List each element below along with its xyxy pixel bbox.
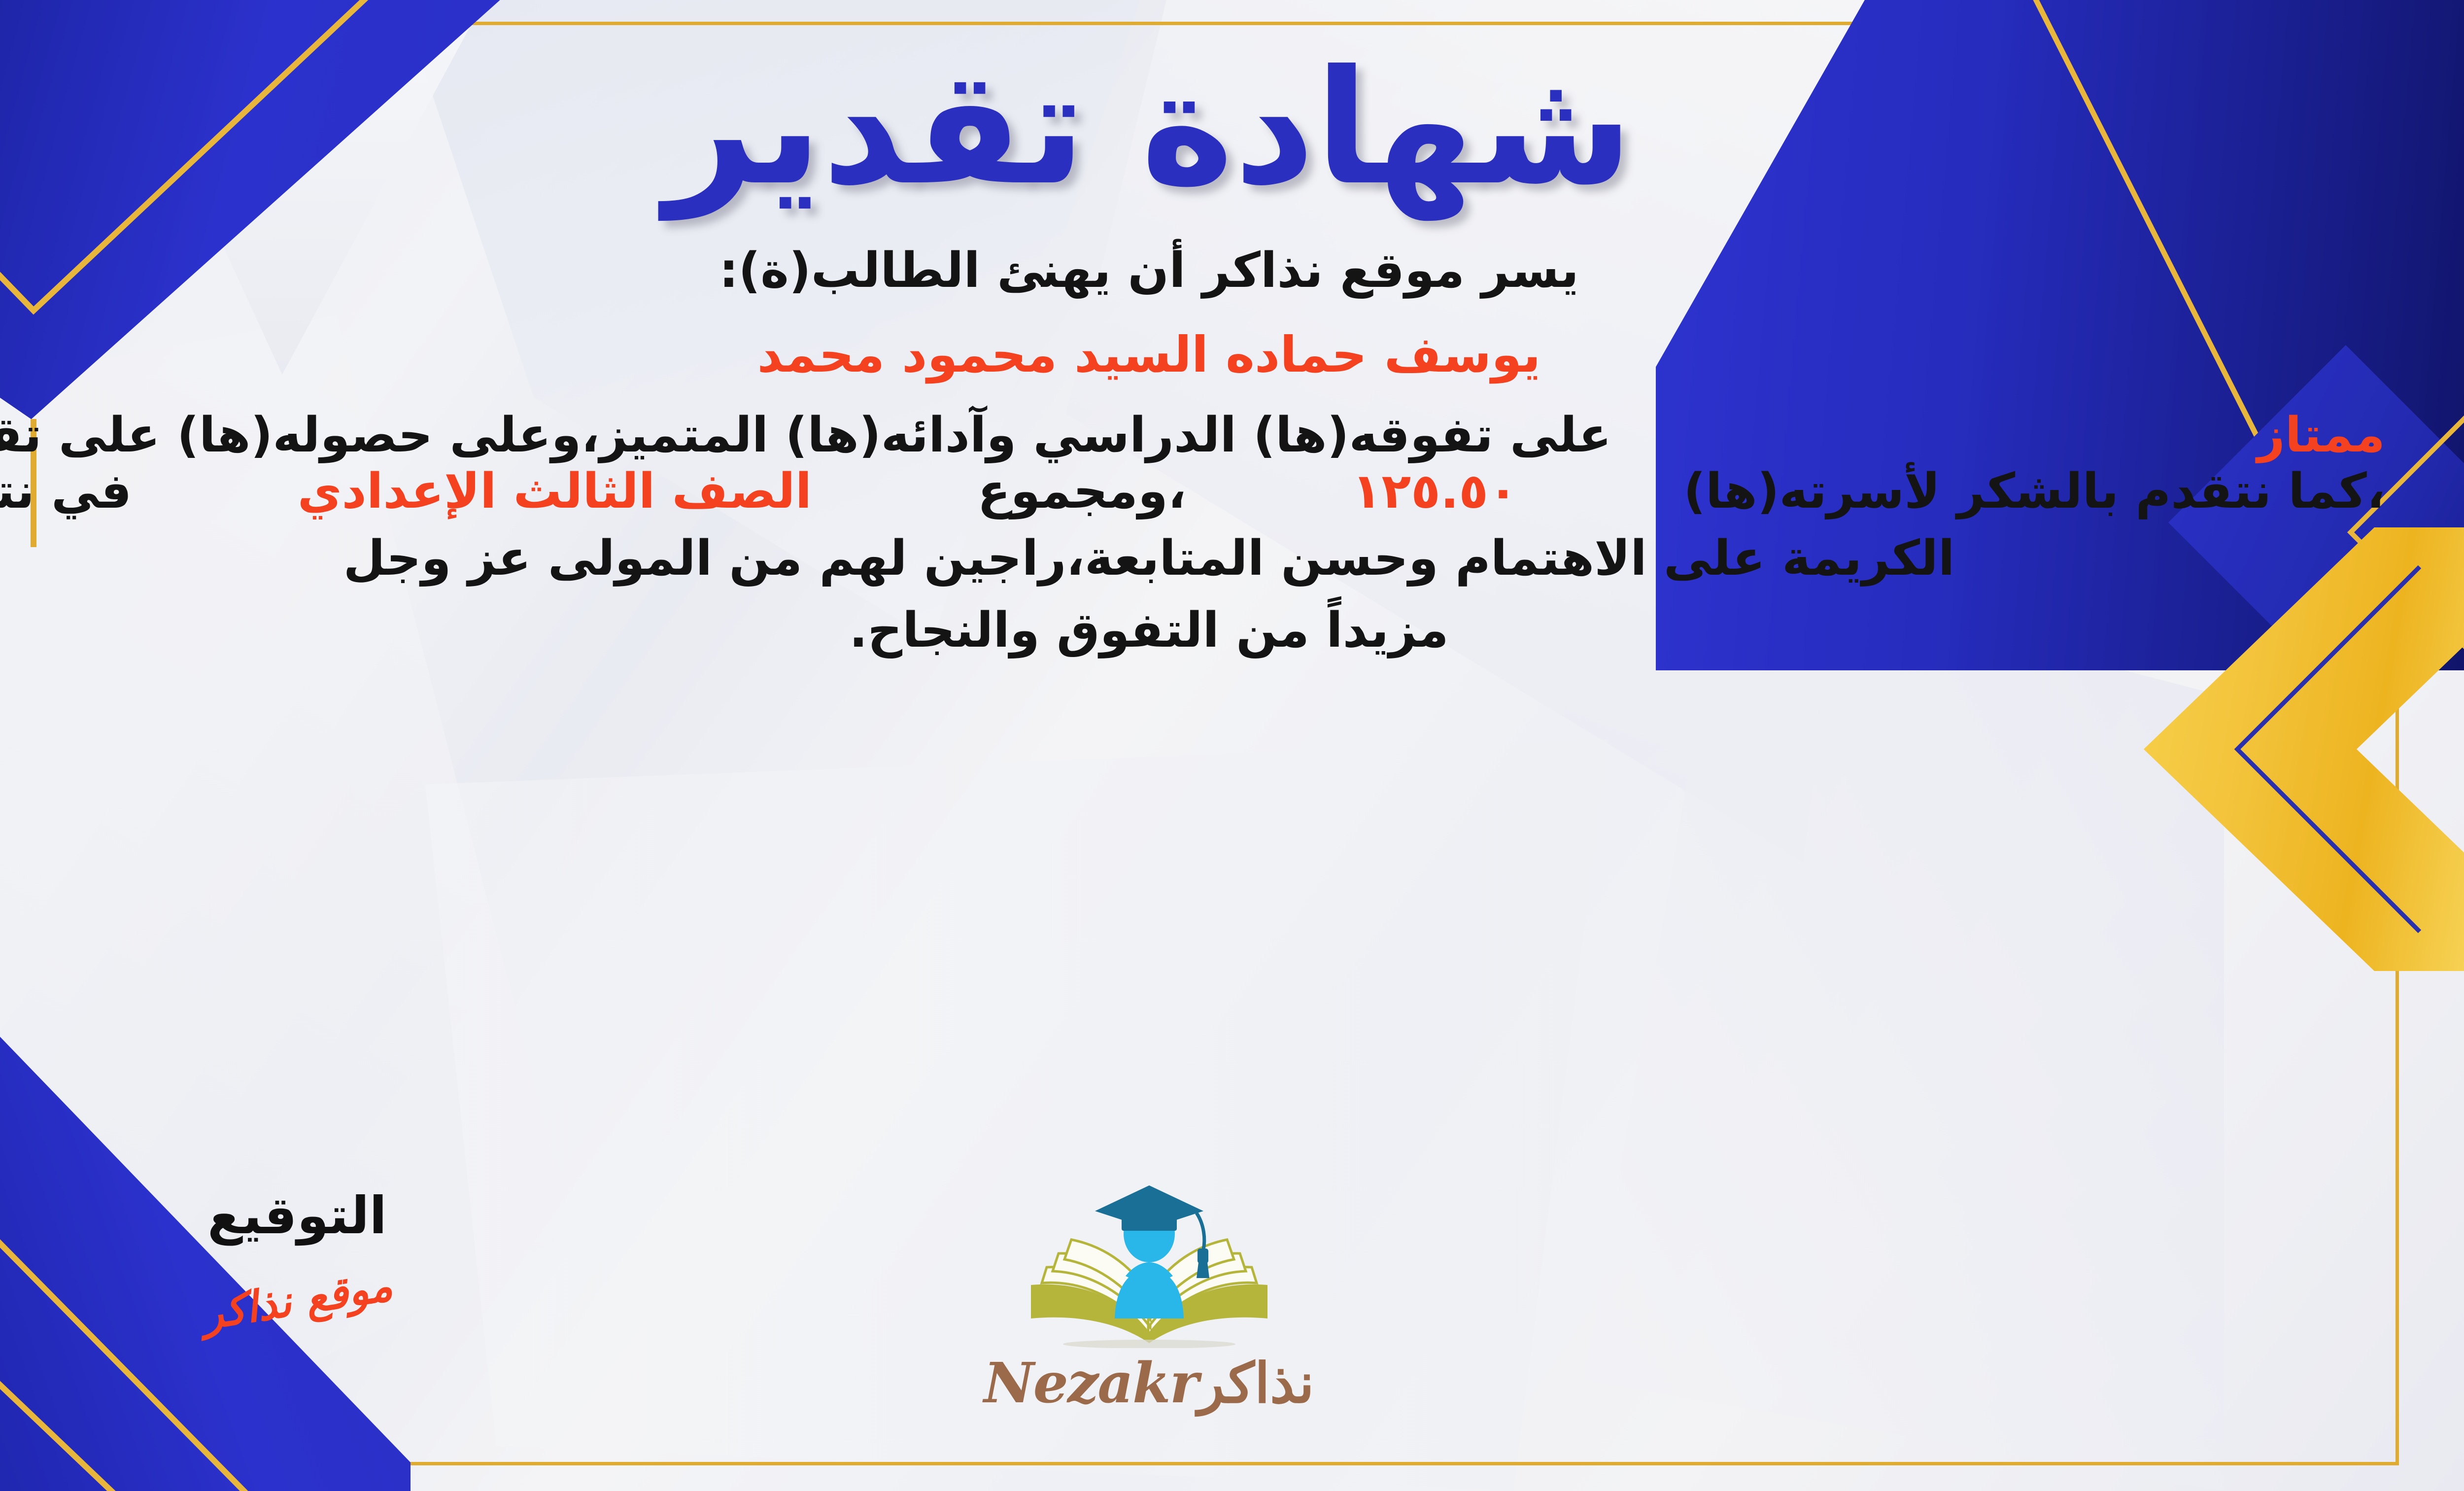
certificate-footer: التوقيع موقع نذاكر [0, 1171, 2390, 1447]
certificate-body: يسر موقع نذاكر أن يهنئ الطالب(ة): يوسف ح… [0, 237, 2390, 665]
logo-latin: Nezakr [984, 1351, 1198, 1416]
total-score-value: ١٢٥.٥٠ [1352, 463, 1518, 520]
certificate-title: شهادة تقدير [665, 49, 1633, 207]
logo-wordmark: نذاكرNezakr [984, 1351, 1314, 1416]
achievement-line: ممتاز على تفوقه(ها) الدراسي وآدائه(ها) ا… [0, 407, 2390, 463]
signature-block: التوقيع موقع نذاكر [144, 1185, 450, 1325]
gratitude-line: الكريمة على الاهتمام وحسن المتابعة،راجين… [0, 523, 2390, 593]
certificate-page: شهادة تقدير يسر موقع نذاكر أن يهنئ الطال… [0, 0, 2464, 1491]
site-logo: نذاكرNezakr [927, 1171, 1371, 1416]
signature-label: التوقيع [144, 1185, 450, 1246]
result-prefix: في نتيجة [0, 463, 132, 520]
thanks-family-text: ،كما نتقدم بالشكر لأسرته(ها) [1683, 463, 2385, 520]
student-name: يوسف حماده السيد محمود محمد [0, 326, 2390, 383]
wishes-line: مزيداً من التفوق والنجاح. [0, 595, 2390, 665]
congratulation-lead-line: يسر موقع نذاكر أن يهنئ الطالب(ة): [0, 237, 2390, 305]
graduate-book-logo-icon [1011, 1171, 1287, 1348]
result-line: ،كما نتقدم بالشكر لأسرته(ها) ١٢٥.٥٠ ،ومج… [0, 463, 2390, 520]
signature-mark: موقع نذاكر [142, 1251, 452, 1349]
total-label: ،ومجموع [978, 463, 1187, 520]
class-name-value: الصف الثالث الإعدادي [298, 463, 812, 520]
achievement-text: على تفوقه(ها) الدراسي وآدائه(ها) المتميز… [0, 407, 1611, 463]
grade-rating-value: ممتاز [2257, 407, 2385, 463]
logo-arabic: نذاكر [1198, 1351, 1314, 1416]
